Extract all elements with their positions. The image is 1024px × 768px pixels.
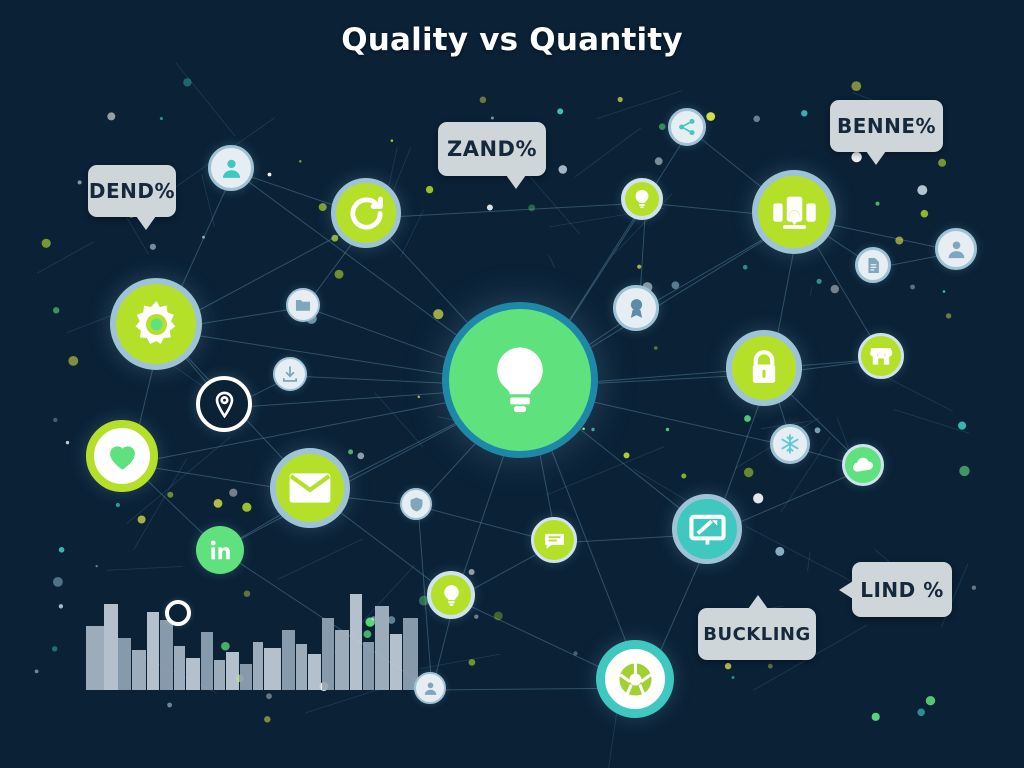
bubble-benne-tail <box>866 151 886 165</box>
lightbulb-icon <box>631 188 653 210</box>
bubble-buckling-tail <box>748 595 768 609</box>
node-shield-mid[interactable] <box>400 488 432 520</box>
node-walk-bottom[interactable] <box>414 672 446 704</box>
bubble-benne-label: BENNE% <box>837 114 936 138</box>
bubble-buckling[interactable]: BUCKLING <box>698 608 816 660</box>
bubble-benne[interactable]: BENNE% <box>830 100 943 152</box>
node-email[interactable] <box>270 448 350 528</box>
bubble-dend-tail <box>136 216 156 230</box>
bubble-dend[interactable]: DEND% <box>88 165 176 217</box>
node-contact-right[interactable] <box>935 228 977 270</box>
person-icon <box>945 238 968 261</box>
node-security[interactable] <box>726 330 802 406</box>
gear-icon <box>129 297 184 352</box>
ring-icon <box>176 611 181 616</box>
node-share-top[interactable] <box>668 108 706 146</box>
people-group-icon <box>770 188 819 237</box>
heart-icon <box>105 439 140 474</box>
document-icon <box>864 256 883 275</box>
node-folder-left[interactable] <box>286 288 320 322</box>
bubble-zand-label: ZAND% <box>447 137 537 161</box>
lightbulb-icon <box>481 341 559 419</box>
node-settings[interactable] <box>110 278 202 370</box>
location-pin-icon <box>210 390 239 419</box>
store-icon <box>868 343 894 369</box>
node-team[interactable] <box>752 170 836 254</box>
lightbulb-icon <box>439 583 464 608</box>
node-linkedin[interactable] <box>196 526 244 574</box>
folder-icon <box>294 296 312 314</box>
node-chat[interactable] <box>531 517 577 563</box>
bubble-lind-label: LIND % <box>860 578 944 602</box>
bubble-lind-tail <box>839 581 853 599</box>
node-idea-top[interactable] <box>621 178 663 220</box>
node-refresh[interactable] <box>331 178 401 248</box>
envelope-icon <box>285 463 335 513</box>
bubble-dend-label: DEND% <box>89 179 175 203</box>
linkedin-icon <box>208 538 233 563</box>
node-doc-right[interactable] <box>855 247 891 283</box>
refresh-icon <box>346 193 387 234</box>
bubble-lind[interactable]: LIND % <box>852 562 952 617</box>
download-icon <box>281 365 299 383</box>
node-store-right[interactable] <box>858 333 904 379</box>
city-skyline <box>78 580 438 690</box>
node-ring-bottom[interactable] <box>165 600 191 626</box>
node-location[interactable] <box>196 376 252 432</box>
page-title: Quality vs Quantity <box>0 22 1024 58</box>
award-icon <box>624 296 649 321</box>
infographic-canvas: DEND%ZAND%BENNE%BUCKLINGLIND % Quality v… <box>0 0 1024 768</box>
person-icon <box>422 680 439 697</box>
node-heart[interactable] <box>86 420 158 492</box>
presentation-icon <box>687 509 728 550</box>
shield-icon <box>408 496 425 513</box>
bubble-zand[interactable]: ZAND% <box>438 122 546 176</box>
node-globe[interactable] <box>596 640 674 718</box>
node-presentation[interactable] <box>672 494 742 564</box>
node-award[interactable] <box>613 285 659 331</box>
lock-icon <box>743 347 785 389</box>
node-download-left[interactable] <box>273 357 307 391</box>
bubble-buckling-label: BUCKLING <box>703 624 811 645</box>
share-icon <box>677 117 697 137</box>
node-cloud-right[interactable] <box>842 444 884 486</box>
bubble-zand-tail <box>506 175 526 189</box>
cloud-icon <box>851 453 875 477</box>
node-person-top[interactable] <box>208 145 254 191</box>
person-icon <box>219 156 244 181</box>
node-snow-right[interactable] <box>770 424 810 464</box>
chat-icon <box>542 528 567 553</box>
snowflake-icon <box>779 433 801 455</box>
node-hub-idea[interactable] <box>442 302 598 458</box>
node-idea-small[interactable] <box>427 571 475 619</box>
globe-icon <box>615 659 656 700</box>
